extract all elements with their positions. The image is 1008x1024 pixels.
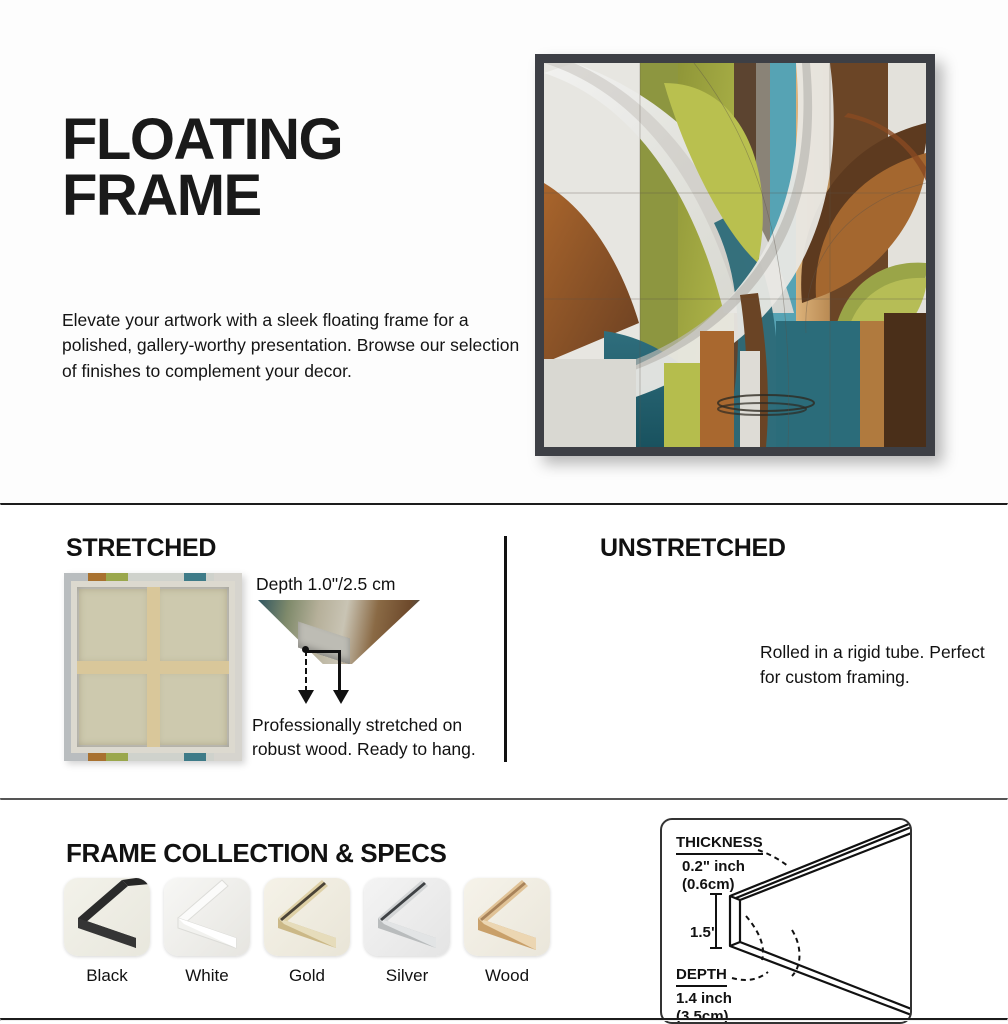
dimension-arrow-down-right	[333, 690, 349, 704]
frame-swatch-black-label: Black	[64, 966, 150, 986]
frame-collection-section: FRAME COLLECTION & SPECS Black	[0, 800, 1008, 1024]
hero-section: FLOATING FRAME Elevate your artwork with…	[0, 0, 1008, 503]
frame-swatch-wood-image	[464, 878, 550, 956]
artwork-frame-border	[535, 54, 935, 456]
unstretched-heading: UNSTRETCHED	[600, 534, 786, 563]
stretcher-bar-horizontal	[77, 661, 229, 674]
frame-swatch-wood-label: Wood	[464, 966, 550, 986]
frame-corner-icon	[264, 878, 350, 956]
page-title: FLOATING FRAME	[62, 112, 342, 225]
frame-swatch-black-image	[64, 878, 150, 956]
hero-description: Elevate your artwork with a sleek floati…	[62, 308, 532, 384]
frame-swatch-gold-label: Gold	[264, 966, 350, 986]
frame-swatch-silver-label: Silver	[364, 966, 450, 986]
unstretched-caption: Rolled in a rigid tube. Perfect for cust…	[760, 640, 1005, 689]
depth-label: Depth 1.0"/2.5 cm	[256, 574, 395, 595]
stretched-canvas-photo	[64, 573, 242, 761]
frame-swatch-white-image	[164, 878, 250, 956]
spec-depth-label: DEPTH	[676, 966, 727, 987]
product-infographic-page: FLOATING FRAME Elevate your artwork with…	[0, 0, 1008, 1024]
frame-corner-icon	[64, 878, 150, 956]
frame-swatch-wood[interactable]: Wood	[464, 878, 550, 986]
artwork-canvas-image	[544, 63, 926, 447]
frame-swatch-white-label: White	[164, 966, 250, 986]
frame-swatch-gold[interactable]: Gold	[264, 878, 350, 986]
frame-corner-icon	[464, 878, 550, 956]
stretched-heading: STRETCHED	[66, 534, 216, 563]
stretched-caption: Professionally stretched on robust wood.…	[252, 714, 502, 761]
frame-swatch-silver[interactable]: Silver	[364, 878, 450, 986]
frame-corner-icon	[164, 878, 250, 956]
frame-swatch-white[interactable]: White	[164, 878, 250, 986]
frame-swatch-list: Black White	[64, 878, 550, 986]
framed-artwork	[535, 54, 935, 456]
frame-spec-diagram: THICKNESS 0.2" inch (0.6cm) 1.5" DEPTH 1…	[660, 818, 912, 1024]
canvas-stretcher-board	[71, 581, 235, 753]
dimension-elbow-line	[305, 650, 341, 694]
divider-vertical-mid	[504, 536, 507, 762]
abstract-art-svg	[544, 63, 926, 447]
divider-page-bottom	[0, 1018, 1008, 1021]
spec-height-value: 1.5"	[690, 924, 718, 941]
frame-swatch-black[interactable]: Black	[64, 878, 150, 986]
spec-thickness-label: THICKNESS	[676, 834, 763, 855]
frame-swatch-gold-image	[264, 878, 350, 956]
frame-collection-title: FRAME COLLECTION & SPECS	[66, 838, 446, 869]
spec-thickness-value: 0.2" inch (0.6cm)	[682, 858, 745, 894]
frame-swatch-silver-image	[364, 878, 450, 956]
frame-corner-icon	[364, 878, 450, 956]
